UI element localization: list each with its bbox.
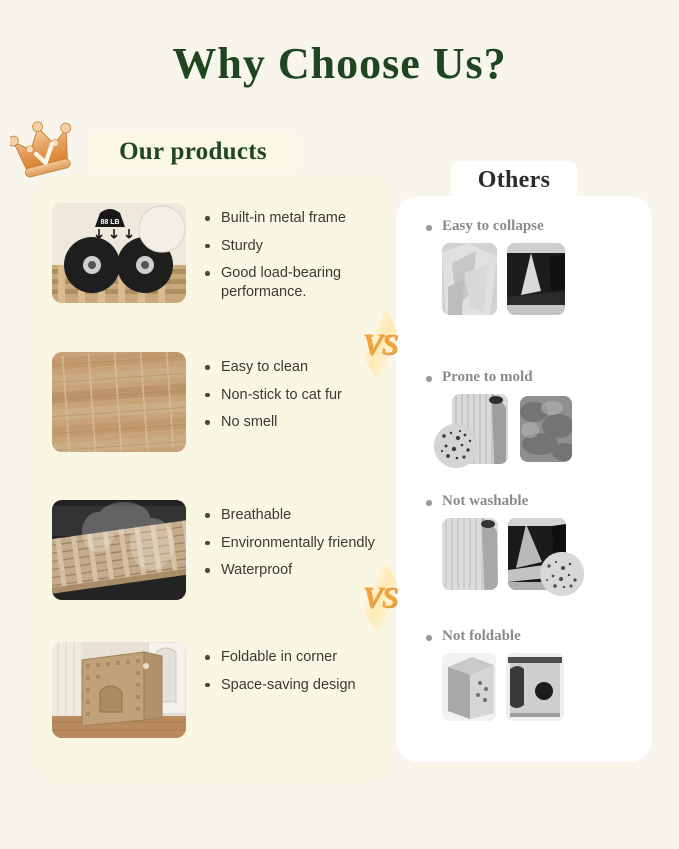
our-row-3: Breathable Environmentally friendly Wate… [52,500,375,600]
other-thumbs-2 [442,394,533,472]
our-products-title: Our products [119,138,267,166]
others-title: Others [478,167,550,194]
others-banner: Others [451,161,577,199]
other-label: Prone to mold [424,369,533,386]
other-row-4: Not foldable [424,628,521,731]
our-row-4: Foldable in corner Space-saving design [52,642,356,738]
other-image-mold-right [520,396,572,462]
vs-label: VS [348,312,412,378]
other-thumbs-4 [442,653,521,731]
our-bullet: Built-in metal frame [204,209,382,228]
our-bullets-1: Built-in metal frame Sturdy Good load-be… [204,203,382,310]
other-image-dirt-closeup [540,552,584,596]
our-bullet: Environmentally friendly [204,534,375,553]
other-label: Not foldable [424,628,521,645]
our-bullet: Breathable [204,506,375,525]
other-label: Not washable [424,493,528,510]
other-row-2: Prone to mold [424,369,533,472]
our-bullet: Easy to clean [204,358,342,377]
product-image-rattan-texture [52,352,186,452]
product-image-foldable-corner [52,642,186,738]
other-row-3: Not washable [424,493,528,596]
our-bullet: Good load-bearing performance. [204,264,382,301]
our-bullet: Foldable in corner [204,648,356,667]
other-image-collapsed-right [507,243,565,315]
our-bullet: Non-stick to cat fur [204,386,342,405]
our-bullet: Space-saving design [204,676,356,695]
other-label: Easy to collapse [424,218,544,235]
other-image-collapsed-left [442,243,497,315]
other-thumbs-3 [442,518,528,596]
other-row-1: Easy to collapse [424,218,544,321]
product-image-breathable-weave [52,500,186,600]
product-image-metal-frame: 88 LB [52,203,186,303]
crown-check-icon [10,118,86,180]
vs-badge-2: VS [348,565,412,631]
vs-badge-1: VS [348,312,412,378]
other-image-rigid-right [506,653,564,721]
our-bullet: Sturdy [204,237,382,256]
our-bullets-4: Foldable in corner Space-saving design [204,642,356,703]
comparison-infographic: Why Choose Us? [0,0,679,849]
our-row-1: 88 LB Built-in metal frame Sturdy Good l… [52,203,382,310]
vs-label: VS [348,565,412,631]
our-products-banner: Our products [86,132,300,172]
svg-text:88 LB: 88 LB [100,219,119,226]
other-thumbs-1 [442,243,544,321]
our-row-2: Easy to clean Non-stick to cat fur No sm… [52,352,342,452]
other-image-mold-closeup [434,424,478,468]
other-image-stained-left [442,518,498,590]
other-image-rigid-left [442,653,496,721]
our-bullet: No smell [204,413,342,432]
page-title: Why Choose Us? [0,38,679,89]
our-bullets-2: Easy to clean Non-stick to cat fur No sm… [204,352,342,441]
